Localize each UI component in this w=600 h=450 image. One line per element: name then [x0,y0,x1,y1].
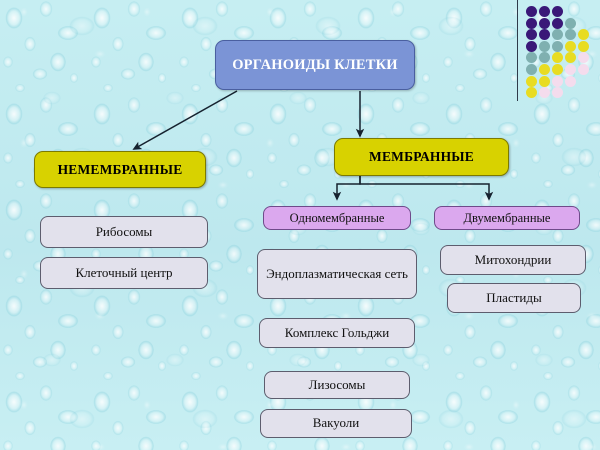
decorative-dot [526,64,537,75]
node-vacuoles-label: Вакуоли [313,416,360,431]
node-mitochondria[interactable]: Митохондрии [440,245,586,275]
slide-canvas: ОРГАНОИДЫ КЛЕТКИ НЕМЕМБРАННЫЕ МЕМБРАННЫЕ… [0,0,600,450]
decorative-dot [565,76,576,87]
decorative-dot [539,41,550,52]
node-golgi-complex[interactable]: Комплекс Гольджи [259,318,415,348]
decorative-dot [526,41,537,52]
node-root-label: ОРГАНОИДЫ КЛЕТКИ [232,57,398,73]
decorative-dot [578,64,589,75]
node-golgi-complex-label: Комплекс Гольджи [285,326,389,341]
decorative-dot [565,64,576,75]
node-non-membrane[interactable]: НЕМЕМБРАННЫЕ [34,151,206,188]
decorative-dot [539,18,550,29]
node-cell-center[interactable]: Клеточный центр [40,257,208,289]
node-non-membrane-label: НЕМЕМБРАННЫЕ [58,162,183,177]
decorative-dot [565,29,576,40]
decorative-dot [552,64,563,75]
decorative-dot [578,29,589,40]
decorative-dot [552,41,563,52]
node-mitochondria-label: Митохондрии [475,253,552,268]
decorative-vertical-rule [517,0,518,101]
decorative-dot [578,41,589,52]
node-ribosomes[interactable]: Рибосомы [40,216,208,248]
node-ribosomes-label: Рибосомы [96,225,153,240]
node-membrane[interactable]: МЕМБРАННЫЕ [334,138,509,176]
decorative-dot [565,52,576,63]
node-single-membrane[interactable]: Одномембранные [263,206,411,230]
node-endoplasmic-reticulum[interactable]: Эндоплазматическая сеть [257,249,417,299]
node-vacuoles[interactable]: Вакуоли [260,409,412,438]
decorative-dot [552,29,563,40]
node-double-membrane-label: Двумембранные [464,211,551,225]
decorative-dot [552,6,563,17]
decorative-dot [539,87,550,98]
decorative-dot [526,52,537,63]
decorative-dot-grid [526,6,592,98]
decorative-dot [539,76,550,87]
decorative-dot [526,6,537,17]
node-lysosomes[interactable]: Лизосомы [264,371,410,399]
decorative-dot [552,52,563,63]
node-lysosomes-label: Лизосомы [309,378,366,393]
decorative-dot [552,76,563,87]
decorative-dot [526,76,537,87]
node-membrane-label: МЕМБРАННЫЕ [369,149,474,164]
decorative-dot [552,18,563,29]
decorative-dot [539,29,550,40]
decorative-dot [526,87,537,98]
decorative-dot [565,18,576,29]
node-plastids-label: Пластиды [486,291,541,306]
decorative-dot [526,18,537,29]
node-root-organelles[interactable]: ОРГАНОИДЫ КЛЕТКИ [215,40,415,90]
decorative-dot [539,64,550,75]
decorative-dot [578,52,589,63]
node-single-membrane-label: Одномембранные [290,211,385,225]
node-endoplasmic-reticulum-label: Эндоплазматическая сеть [266,267,408,282]
decorative-dot [539,52,550,63]
decorative-dot [526,29,537,40]
decorative-dot [565,41,576,52]
node-cell-center-label: Клеточный центр [75,266,172,281]
decorative-dot [539,6,550,17]
decorative-dot [552,87,563,98]
node-plastids[interactable]: Пластиды [447,283,581,313]
node-double-membrane[interactable]: Двумембранные [434,206,580,230]
